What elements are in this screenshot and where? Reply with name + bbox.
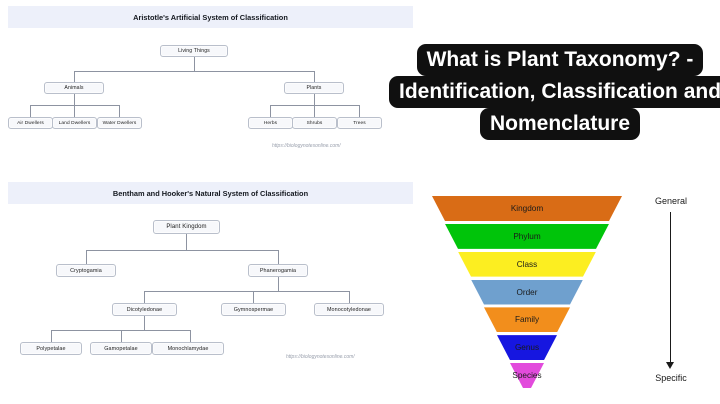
- connector-drop-dicot: [144, 291, 145, 303]
- connector-drop-phanerogamia: [278, 250, 279, 264]
- pyramid-band-order: Order: [432, 280, 622, 305]
- connector-drop-cryptogamia: [86, 250, 87, 264]
- node-monocotyledonae: Monocotyledonae: [314, 303, 384, 316]
- watermark-natural: https://biologynotesonline.com/: [286, 354, 355, 360]
- axis-arrow-head: [666, 362, 674, 369]
- connector-drop-shrubs: [314, 105, 315, 117]
- connector-drop-animals: [74, 71, 75, 82]
- diagram-title-artificial: Aristotle's Artificial System of Classif…: [8, 6, 413, 28]
- node-water-dwellers: Water Dwellers: [97, 117, 142, 129]
- connector-drop-monochlamydae: [190, 330, 191, 342]
- connector-drop-air: [30, 105, 31, 117]
- pyramid-band-shape: [432, 224, 622, 249]
- pyramid-band-kingdom: Kingdom: [432, 196, 622, 221]
- connector-plantkingdom-stem: [186, 234, 187, 250]
- pyramid-band-shape: [432, 335, 622, 360]
- connector-drop-gamopetalae: [121, 330, 122, 342]
- node-polypetalae: Polypetalae: [20, 342, 82, 355]
- pyramid-band-species: Species: [432, 363, 622, 388]
- diagram-title-natural: Bentham and Hooker's Natural System of C…: [8, 182, 413, 204]
- diagram-bentham-hooker-natural-system: Bentham and Hooker's Natural System of C…: [8, 182, 413, 378]
- page-title-line-2: Identification, Classification and: [389, 76, 720, 108]
- pyramid-band-class: Class: [432, 252, 622, 277]
- taxonomic-rank-pyramid: KingdomPhylumClassOrderFamilyGenusSpecie…: [432, 196, 622, 388]
- node-land-dwellers: Land Dwellers: [52, 117, 97, 129]
- page-title-line-1: What is Plant Taxonomy? -: [417, 44, 704, 76]
- connector-drop-water: [119, 105, 120, 117]
- node-cryptogamia: Cryptogamia: [56, 264, 116, 277]
- pyramid-band-genus: Genus: [432, 335, 622, 360]
- node-plant-kingdom: Plant Kingdom: [153, 220, 220, 234]
- infographic-canvas: Aristotle's Artificial System of Classif…: [0, 0, 720, 404]
- axis-label-general: General: [636, 196, 706, 206]
- connector-drop-gymno: [253, 291, 254, 303]
- connector-root-stem: [194, 57, 195, 71]
- connector-spine-level3: [144, 291, 349, 292]
- node-plants: Plants: [284, 82, 344, 94]
- connector-drop-plants: [314, 71, 315, 82]
- pyramid-band-shape: [432, 196, 622, 221]
- connector-drop-monocot: [349, 291, 350, 303]
- node-air-dwellers: Air Dwellers: [8, 117, 53, 129]
- connector-spine-level1: [74, 71, 314, 72]
- node-gymnospermae: Gymnospermae: [221, 303, 286, 316]
- connector-animals-stem: [74, 94, 75, 105]
- pyramid-band-phylum: Phylum: [432, 224, 622, 249]
- connector-plants-stem: [314, 94, 315, 105]
- node-dicotyledonae: Dicotyledonae: [112, 303, 177, 316]
- node-gamopetalae: Gamopetalae: [90, 342, 152, 355]
- connector-phanerogamia-stem: [278, 277, 279, 291]
- connector-drop-polypetalae: [51, 330, 52, 342]
- page-title: What is Plant Taxonomy? - Identification…: [404, 44, 716, 140]
- node-shrubs: Shrubs: [292, 117, 337, 129]
- pyramid-band-shape: [432, 363, 622, 388]
- node-living-things: Living Things: [160, 45, 228, 57]
- pyramid-band-shape: [432, 252, 622, 277]
- pyramid-band-shape: [432, 307, 622, 332]
- diagram-aristotle-artificial-system: Aristotle's Artificial System of Classif…: [8, 6, 413, 156]
- axis-arrow-line: [670, 212, 671, 364]
- node-trees: Trees: [337, 117, 382, 129]
- node-monochlamydae: Monochlamydae: [152, 342, 224, 355]
- node-phanerogamia: Phanerogamia: [248, 264, 308, 277]
- node-animals: Animals: [44, 82, 104, 94]
- pyramid-band-shape: [432, 280, 622, 305]
- connector-spine-level2: [86, 250, 278, 251]
- connector-dicot-stem: [144, 316, 145, 330]
- connector-drop-trees: [359, 105, 360, 117]
- axis-label-specific: Specific: [636, 373, 706, 383]
- generality-axis: General Specific: [636, 196, 706, 388]
- connector-drop-herbs: [270, 105, 271, 117]
- pyramid-band-family: Family: [432, 307, 622, 332]
- connector-drop-land: [74, 105, 75, 117]
- page-title-line-3: Nomenclature: [480, 108, 640, 140]
- node-herbs: Herbs: [248, 117, 293, 129]
- watermark-artificial: https://biologynotesonline.com/: [272, 143, 341, 149]
